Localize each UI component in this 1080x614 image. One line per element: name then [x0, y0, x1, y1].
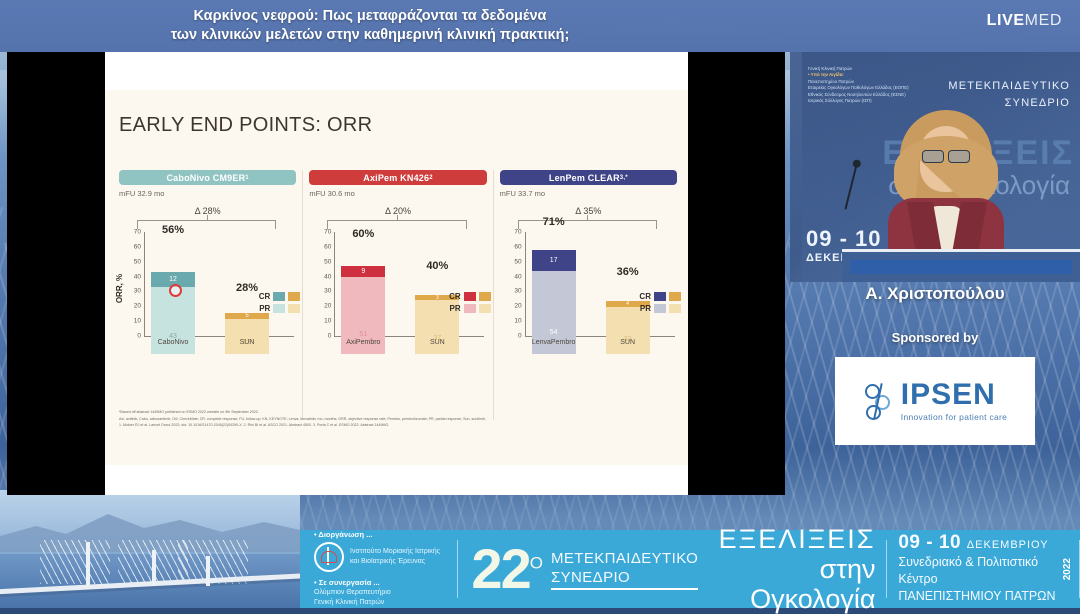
banner-dates: 09 - 10 — [898, 532, 961, 553]
banner-venue-line2: ΠΑΝΕΠΙΣΤΗΜΙΟΥ ΠΑΤΡΩΝ — [898, 588, 1056, 605]
legend-label-cr: CR — [636, 292, 651, 301]
banner-dates-month: ΔΕΚΕΜΒΡΙΟΥ — [967, 539, 1049, 551]
livemed-logo: LIVEMED — [987, 12, 1062, 30]
bar-total-label: 56% — [162, 224, 184, 236]
delta-label: Δ 28% — [113, 206, 302, 216]
panel-mfu: mFU 30.6 mo — [309, 189, 486, 198]
delta-bracket — [137, 220, 276, 229]
sponsor-name: IPSEN — [901, 380, 1007, 410]
legend-swatch-pr-comparator — [288, 304, 300, 313]
ipsen-helix-icon — [863, 381, 893, 421]
y-axis-label: ORR, % — [115, 274, 124, 303]
backdrop-congress-label: ΜΕΤΕΚΠΑΙΔΕΥΤΙΚΟ ΣΥΝΕΔΡΙΟ — [948, 78, 1070, 112]
y-axis-line — [334, 232, 335, 336]
livemed-logo-light: MED — [1025, 12, 1062, 29]
presentation-title-line2: των κλινικών μελετών στην καθημερινή κλι… — [70, 26, 670, 45]
delta-label: Δ 35% — [494, 206, 683, 216]
banner-exelixeis: ΕΞΕΛΙΞΕΙΣ στην Ογκολογία — [698, 525, 885, 614]
y-tick: 50 — [514, 259, 521, 266]
chart-legend: CR PR — [636, 292, 681, 316]
chart-panels: CaboNivo CM9ER1 mFU 32.9 mo Δ 28% ORR, %… — [113, 170, 683, 420]
y-tick: 70 — [324, 229, 331, 236]
legend-swatch-cr-primary — [654, 292, 666, 301]
aegis-line: Εταιρείας Ογκολόγων Παθολόγων Ελλάδος (Ε… — [808, 85, 909, 91]
legend-swatch-cr-primary — [464, 292, 476, 301]
y-tick: 50 — [134, 259, 141, 266]
presentation-title: Καρκίνος νεφρού: Πως μεταφράζονται τα δε… — [70, 7, 670, 45]
legend-swatch-pr-primary — [654, 304, 666, 313]
presentation-slide: EARLY END POINTS: ORR CaboNivo CM9ER1 mF… — [105, 52, 688, 495]
y-tick: 30 — [324, 288, 331, 295]
chart-legend: CR PR — [255, 292, 300, 316]
y-tick: 60 — [324, 244, 331, 251]
panel-tag-label: CaboNivo CM9ER — [166, 173, 245, 183]
chart-panel-lenpem: LenPem CLEAR3,* mFU 33.7 mo Δ 35% 0 10 2… — [493, 170, 683, 420]
banner-dates-row: 09 - 10 ΔΕΚΕΜΒΡΙΟΥ — [898, 534, 1056, 554]
x-category-label: CaboNivo — [158, 339, 189, 346]
conference-banner: • Διοργάνωση ... Ινστιτούτο Μοριακής Ιατ… — [300, 530, 1080, 608]
legend-label-pr: PR — [446, 304, 461, 313]
aegis-line: Ιατρικός Σύλλογος Πατρών (ΙΣΠ) — [808, 98, 909, 104]
y-tick: 60 — [514, 244, 521, 251]
backdrop-date-range: 09 - 10 — [806, 226, 882, 251]
speaker-name: Α. Χριστοπούλου — [790, 284, 1080, 304]
y-tick: 0 — [137, 333, 141, 340]
banner-year: 2022 — [1062, 558, 1073, 580]
mouse-cursor-marker — [169, 284, 182, 297]
delta-bracket — [518, 220, 657, 229]
plot-area: ORR, % 0 10 20 30 40 50 60 70 12 — [113, 232, 302, 354]
legend-row-cr: CR — [636, 292, 681, 301]
x-category-label: LenvaPembro — [532, 339, 576, 346]
bar-segment-cr: 17 — [532, 250, 576, 271]
player-header-bar: Καρκίνος νεφρού: Πως μεταφράζονται τα δε… — [0, 0, 1080, 52]
y-tick: 20 — [324, 303, 331, 310]
y-axis-ticks: 0 10 20 30 40 50 60 70 — [317, 232, 333, 336]
legend-swatch-cr-primary — [273, 292, 285, 301]
speaker-video[interactable]: Γενική Κλινική Πατρών • Υπό την Αιγίδα: … — [790, 52, 1080, 282]
legend-row-pr: PR — [446, 304, 491, 313]
banner-org-name-line2: και Βιοϊατρικής Έρευνας — [350, 558, 425, 565]
chart-panel-cabonivo: CaboNivo CM9ER1 mFU 32.9 mo Δ 28% ORR, %… — [113, 170, 302, 420]
legend-swatch-pr-comparator — [479, 304, 491, 313]
sponsor-tagline: Innovation for patient care — [901, 413, 1007, 422]
footnote-references: 1. Motzer RJ et al. Lancet Oncol 2022; d… — [119, 423, 678, 428]
slide-top-margin — [105, 52, 688, 90]
y-tick: 70 — [514, 229, 521, 236]
bar-segment-pr: 23 — [225, 319, 269, 354]
bar-total-label: 40% — [426, 260, 448, 272]
banner-venue: 09 - 10 ΔΕΚΕΜΒΡΙΟΥ Συνεδριακό & Πολιτιστ… — [886, 534, 1056, 605]
y-axis-line — [144, 232, 145, 336]
y-tick: 60 — [134, 244, 141, 251]
legend-row-cr: CR — [255, 292, 300, 301]
sponsored-by-label: Sponsored by — [790, 330, 1080, 345]
banner-org-logo-row: Ινστιτούτο Μοριακής Ιατρικής και Βιοϊατρ… — [314, 542, 447, 572]
y-axis-line — [525, 232, 526, 336]
bar-segment-cr: 9 — [341, 266, 385, 277]
slide-stage[interactable]: EARLY END POINTS: ORR CaboNivo CM9ER1 mF… — [7, 52, 785, 495]
presentation-title-line1: Καρκίνος νεφρού: Πως μεταφράζονται τα δε… — [70, 7, 670, 26]
banner-edition-number: 22Ο — [457, 541, 545, 597]
legend-swatch-pr-primary — [273, 304, 285, 313]
y-tick: 50 — [324, 259, 331, 266]
x-category-label: SUN — [620, 339, 635, 346]
y-tick: 10 — [134, 318, 141, 325]
banner-org-name-line1: Ινστιτούτο Μοριακής Ιατρικής — [350, 548, 440, 555]
banner-coop-line2: Γενική Κλινική Πατρών — [314, 598, 447, 608]
y-tick: 40 — [514, 274, 521, 281]
bar-sun: 5 23 — [225, 313, 269, 354]
banner-exel-line2: στην Ογκολογία — [712, 554, 875, 614]
y-tick: 20 — [134, 303, 141, 310]
chart-legend: CR PR — [446, 292, 491, 316]
podium-strip — [850, 260, 1072, 274]
panel-mfu: mFU 32.9 mo — [119, 189, 296, 198]
banner-coop-line1: Ολύμπιον Θεραπευτήριο — [314, 588, 447, 598]
panel-tag-sup: 1 — [245, 175, 249, 181]
panel-tag-sup: 3,* — [620, 175, 628, 181]
banner-met-line2: ΣΥΝΕΔΡΙΟ — [551, 568, 698, 590]
banner-congress-label: ΜΕΤΕΚΠΑΙΔΕΥΤΙΚΟ ΣΥΝΕΔΡΙΟ — [545, 549, 698, 590]
panel-tag: LenPem CLEAR3,* — [500, 170, 677, 185]
y-tick: 0 — [328, 333, 332, 340]
bar-total-label: 71% — [543, 216, 565, 228]
legend-row-cr: CR — [446, 292, 491, 301]
banner-org-label: • Διοργάνωση ... — [314, 530, 447, 540]
legend-swatch-cr-comparator — [669, 292, 681, 301]
legend-row-pr: PR — [255, 304, 300, 313]
banner-met-line1: ΜΕΤΕΚΠΑΙΔΕΥΤΙΚΟ — [551, 549, 698, 568]
delta-label: Δ 20% — [303, 206, 492, 216]
legend-swatch-pr-primary — [464, 304, 476, 313]
ipsen-wordmark: IPSEN Innovation for patient care — [901, 380, 1007, 422]
y-axis-ticks: 0 10 20 30 40 50 60 70 — [508, 232, 524, 336]
y-tick: 10 — [514, 318, 521, 325]
bar-total-label: 36% — [617, 266, 639, 278]
bar-total-label: 60% — [352, 228, 374, 240]
slide-bottom-margin — [105, 465, 688, 495]
y-tick: 70 — [134, 229, 141, 236]
banner-coop-label: • Σε συνεργασία ... — [314, 578, 447, 588]
y-tick: 10 — [324, 318, 331, 325]
institute-emblem-icon — [314, 542, 344, 572]
panel-tag: AxiPem KN4262 — [309, 170, 486, 185]
legend-label-cr: CR — [446, 292, 461, 301]
banner-exel-line1: ΕΞΕΛΙΞΕΙΣ — [712, 525, 875, 554]
glasses-icon — [922, 150, 970, 161]
banner-organizers: • Διοργάνωση ... Ινστιτούτο Μοριακής Ιατ… — [300, 530, 457, 608]
y-tick: 30 — [514, 288, 521, 295]
delta-bracket — [327, 220, 466, 229]
panel-mfu: mFU 33.7 mo — [500, 189, 677, 198]
panel-tag-sup: 2 — [429, 175, 433, 181]
legend-label-cr: CR — [255, 292, 270, 301]
legend-swatch-cr-comparator — [288, 292, 300, 301]
y-tick: 40 — [324, 274, 331, 281]
panel-tag-label: LenPem CLEAR — [549, 173, 620, 183]
banner-edition-ordinal: Ο — [530, 553, 543, 572]
legend-swatch-pr-comparator — [669, 304, 681, 313]
backdrop-met-line1: ΜΕΤΕΚΠΑΙΔΕΥΤΙΚΟ — [948, 78, 1070, 95]
livemed-logo-bold: LIVE — [987, 12, 1025, 29]
banner-venue-line1: Συνεδριακό & Πολιτιστικό Κέντρο — [898, 554, 1056, 588]
chart-panel-axipem: AxiPem KN4262 mFU 30.6 mo Δ 20% 0 10 20 … — [302, 170, 492, 420]
slide-footnotes: *Based off abstract 1449MO published on … — [119, 410, 678, 430]
x-category-label: SUN — [430, 339, 445, 346]
sponsor-logo[interactable]: IPSEN Innovation for patient care — [835, 357, 1035, 445]
legend-label-pr: PR — [255, 304, 270, 313]
y-tick: 0 — [518, 333, 522, 340]
x-category-label: AxiPembro — [346, 339, 380, 346]
y-tick: 40 — [134, 274, 141, 281]
y-tick: 30 — [134, 288, 141, 295]
y-axis-ticks: 0 10 20 30 40 50 60 70 — [127, 232, 143, 336]
legend-swatch-cr-comparator — [479, 292, 491, 301]
plot-area: 0 10 20 30 40 50 60 70 17 54 — [494, 232, 683, 354]
panel-tag-label: AxiPem KN426 — [363, 173, 429, 183]
legend-label-pr: PR — [636, 304, 651, 313]
x-category-label: SUN — [240, 339, 255, 346]
y-tick: 20 — [514, 303, 521, 310]
slide-title: EARLY END POINTS: ORR — [119, 114, 372, 137]
banner-edition-value: 22 — [471, 537, 529, 600]
backdrop-aegis-text: Γενική Κλινική Πατρών • Υπό την Αιγίδα: … — [808, 66, 909, 104]
legend-row-pr: PR — [636, 304, 681, 313]
banner-org-name: Ινστιτούτο Μοριακής Ιατρικής και Βιοϊατρ… — [350, 547, 440, 567]
plot-area: 0 10 20 30 40 50 60 70 9 51 — [303, 232, 492, 354]
footnote-abbreviations: Axi, axitinib; Cabo, cabozantinib; CM, C… — [119, 417, 678, 422]
footnote-abstract: *Based off abstract 1449MO published on … — [119, 410, 678, 415]
panel-tag: CaboNivo CM9ER1 — [119, 170, 296, 185]
bridge-photo — [0, 490, 300, 608]
